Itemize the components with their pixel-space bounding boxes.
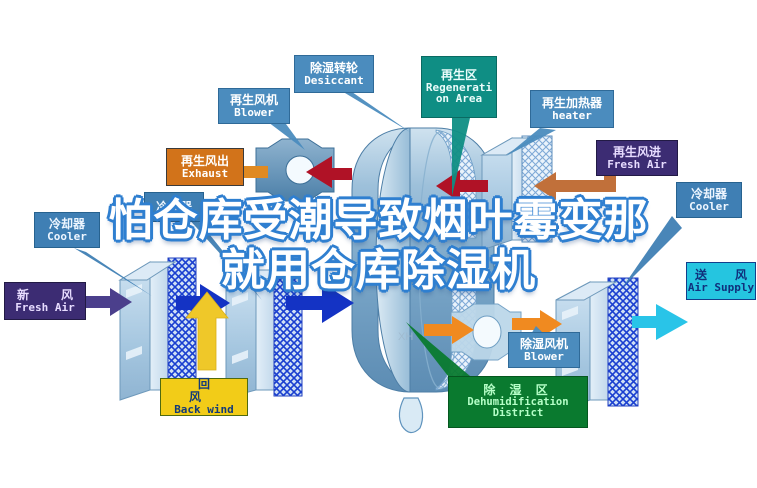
- label-cooler-left-1-en: Cooler: [47, 231, 87, 243]
- label-heater-en: heater: [552, 110, 592, 122]
- label-regeneration-heater[interactable]: 再生加热器 heater: [530, 90, 614, 128]
- label-cooler-left-1-cn: 冷却器: [49, 218, 85, 231]
- regeneration-heater-graphic: [482, 136, 552, 250]
- label-desiccant-rotor[interactable]: 除湿转轮 Desiccant: [294, 55, 374, 93]
- label-cooler-right-cn: 冷却器: [691, 188, 727, 201]
- label-air-supply-en: Air Supply: [688, 282, 754, 294]
- label-regen-area-en-2: on Area: [436, 93, 482, 105]
- label-heater-cn: 再生加热器: [542, 97, 602, 110]
- watermark-text: XH: [398, 331, 413, 343]
- label-exhaust[interactable]: 再生风出 Exhaust: [166, 148, 244, 186]
- label-exhaust-en: Exhaust: [182, 168, 228, 180]
- label-regen-area-cn: 再生区: [441, 69, 477, 82]
- label-cooler-left-1[interactable]: 冷却器 Cooler: [34, 212, 100, 248]
- label-dehum-blower-en: Blower: [524, 351, 564, 363]
- label-regeneration-area[interactable]: 再生区 Regenerati on Area: [421, 56, 497, 118]
- label-regen-blower-en: Blower: [234, 107, 274, 119]
- desiccant-dehumidifier-schematic: XH: [0, 0, 757, 488]
- label-air-supply-cn: 送 风: [687, 269, 755, 282]
- label-cooler-right[interactable]: 冷却器 Cooler: [676, 182, 742, 218]
- label-fresh-air-in[interactable]: 新 风 Fresh Air: [4, 282, 86, 320]
- label-regen-fresh-cn: 再生风进: [613, 146, 661, 159]
- label-cooler-left-2[interactable]: 冷却器: [144, 192, 204, 222]
- label-back-wind[interactable]: 回 风 Back wind: [160, 378, 248, 416]
- label-fresh-air-cn: 新 风: [7, 289, 83, 302]
- label-dehum-district-en-2: District: [493, 408, 544, 419]
- label-back-wind-cn: 回 风: [161, 378, 247, 404]
- label-regen-blower-cn: 再生风机: [230, 94, 278, 107]
- label-dehumidification-district[interactable]: 除 湿 区 Dehumidification District: [448, 376, 588, 428]
- dehumidifier-diagram-canvas: XH 除湿转轮 Desiccant 再生风机 Blower 再生区 Regene…: [0, 0, 757, 488]
- label-cooler-left-2-cn: 冷却器: [156, 201, 192, 214]
- label-regen-fresh-en: Fresh Air: [607, 159, 667, 171]
- label-dehum-blower-cn: 除湿风机: [520, 338, 568, 351]
- label-desiccant-en: Desiccant: [304, 75, 364, 87]
- label-dehumidification-blower[interactable]: 除湿风机 Blower: [508, 332, 580, 368]
- label-back-wind-en: Back wind: [174, 404, 234, 416]
- label-regeneration-fresh-air[interactable]: 再生风进 Fresh Air: [596, 140, 678, 176]
- label-regeneration-blower[interactable]: 再生风机 Blower: [218, 88, 290, 124]
- label-air-supply[interactable]: 送 风 Air Supply: [686, 262, 756, 300]
- label-cooler-right-en: Cooler: [689, 201, 729, 213]
- label-exhaust-cn: 再生风出: [181, 155, 229, 168]
- label-fresh-air-en: Fresh Air: [15, 302, 75, 314]
- label-desiccant-cn: 除湿转轮: [310, 62, 358, 75]
- air-supply-arrow: [632, 304, 688, 340]
